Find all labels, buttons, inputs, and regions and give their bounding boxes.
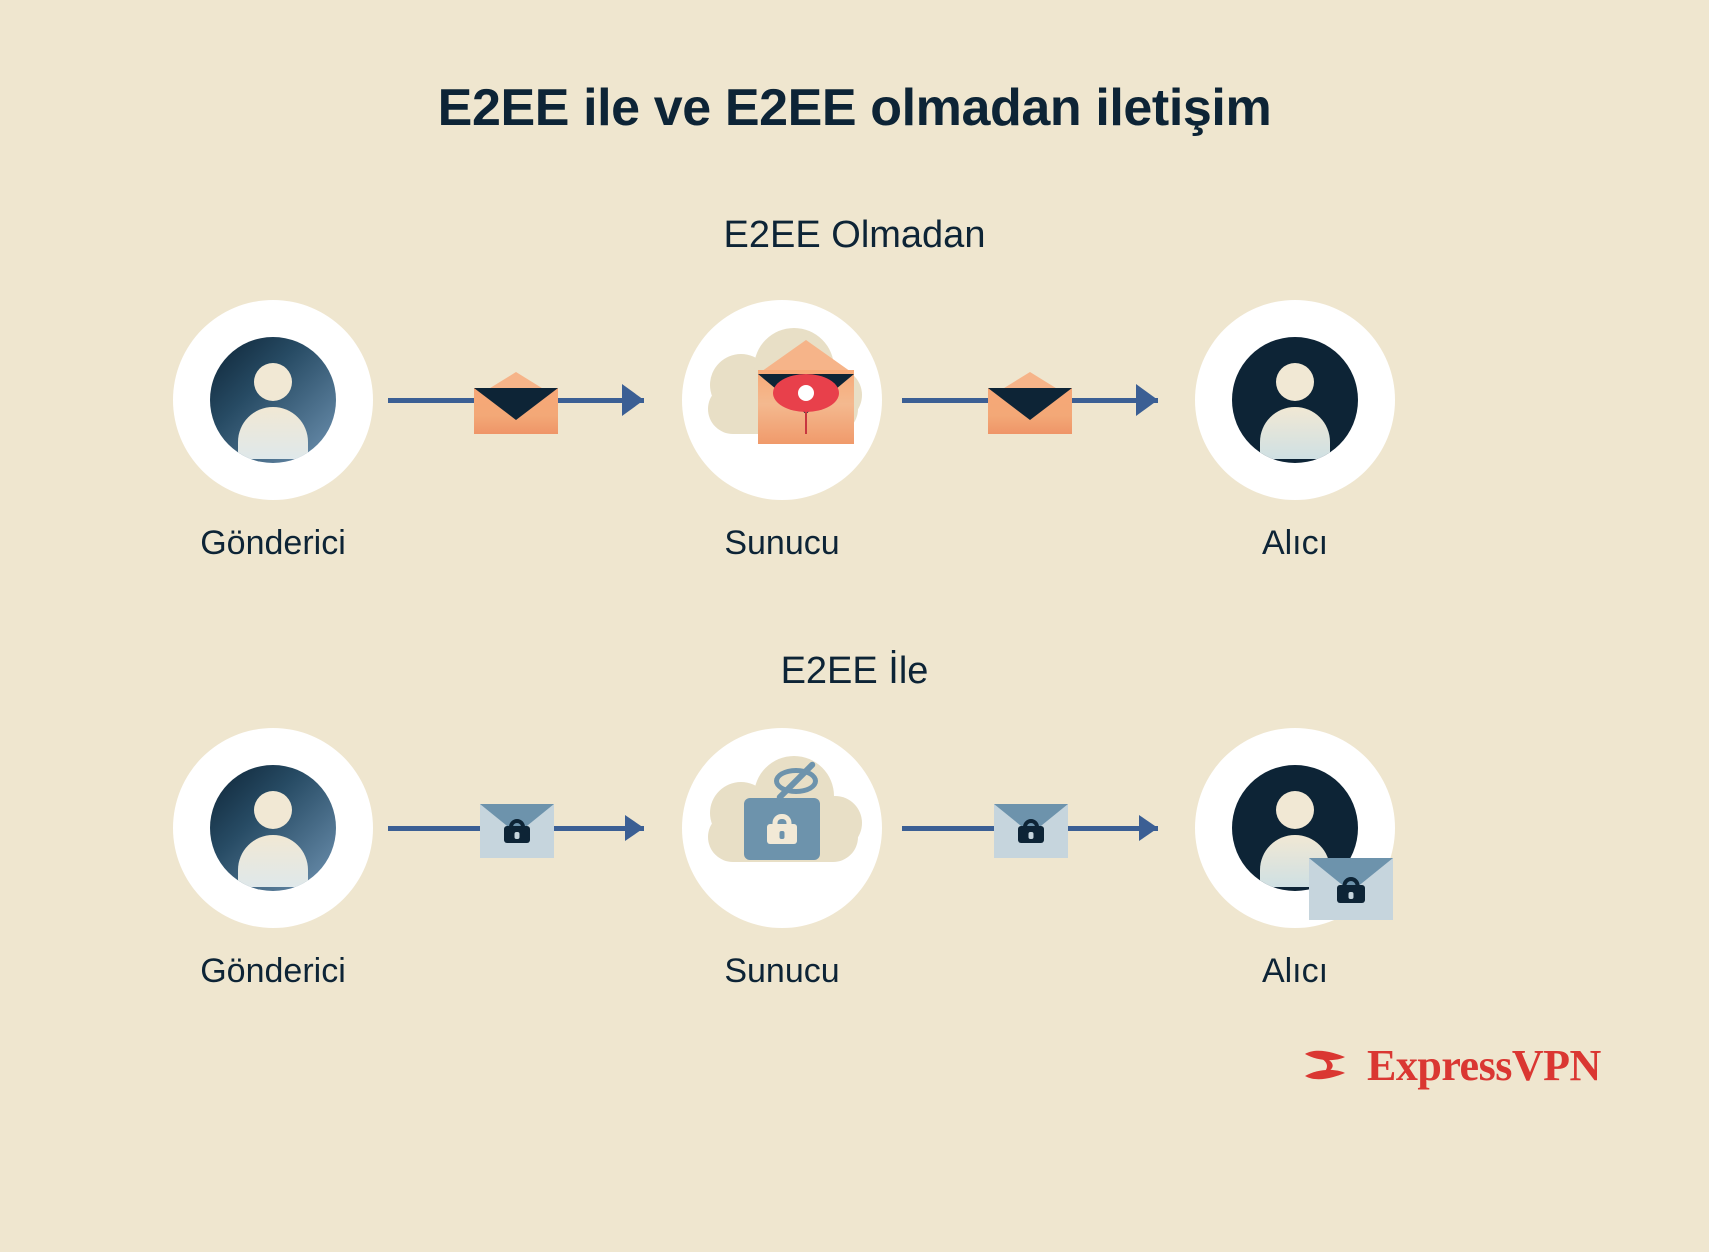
connector-server-to-receiver-plain [902,340,1158,460]
locked-envelope-icon [480,804,554,858]
envelope-flap-front [988,388,1072,420]
node-server-without-e2ee: Sunucu [682,300,882,563]
padlock-keyhole [515,832,520,839]
avatar-halo [173,300,373,500]
section-heading-without-e2ee: E2EE Olmadan [0,214,1709,257]
avatar-halo [1195,300,1395,500]
avatar-head-shape [1276,791,1314,829]
flow-row-without-e2ee: Gönderici [0,300,1709,600]
node-receiver-with-e2ee: Alıcı [1195,728,1395,991]
avatar-halo [682,728,882,928]
padlock-icon [504,819,530,843]
person-avatar-icon [210,337,336,463]
connector-server-to-receiver-encrypted [902,768,1158,888]
open-envelope-icon [474,372,558,434]
avatar-halo [1195,728,1395,928]
arrow-head-icon [625,815,644,841]
open-envelope-icon [988,372,1072,434]
envelope-flap-back [758,340,854,374]
node-label-server: Sunucu [682,952,882,991]
arrow-head-icon [622,384,644,416]
padlock-keyhole [780,831,785,839]
padlock-keyhole [1349,892,1354,899]
avatar-body-shape [238,407,308,459]
page-title: E2EE ile ve E2EE olmadan iletişim [0,78,1709,138]
section-heading-with-e2ee: E2EE İle [0,650,1709,693]
person-avatar-icon [1232,337,1358,463]
node-label-receiver: Alıcı [1195,524,1395,563]
locked-envelope-icon [1309,858,1393,920]
expressvpn-logo-mark [1295,1035,1355,1095]
eye-pupil [798,385,814,401]
node-sender-with-e2ee: Gönderici [173,728,373,991]
person-avatar-icon [210,765,336,891]
node-sender-without-e2ee: Gönderici [173,300,373,563]
arrow-head-icon [1139,815,1158,841]
padlock-icon [1337,877,1365,903]
expressvpn-logo: ExpressVPN [1295,1035,1601,1095]
flow-row-with-e2ee: Gönderici [0,728,1709,1028]
open-envelope-eye-icon [758,370,854,444]
node-label-sender: Gönderici [173,524,373,563]
padlock-icon [1018,819,1044,843]
locked-message-card-icon [744,798,820,860]
node-label-sender: Gönderici [173,952,373,991]
avatar-head-shape [1276,363,1314,401]
padlock-keyhole [1029,832,1034,839]
avatar-head-shape [254,791,292,829]
eye-icon [773,374,839,412]
avatar-halo [173,728,373,928]
eye-slash-icon [768,758,822,802]
avatar-body-shape [1260,407,1330,459]
envelope-flap-front [474,388,558,420]
avatar-body-shape [238,835,308,887]
locked-envelope-icon [994,804,1068,858]
padlock-icon [767,814,797,844]
node-server-with-e2ee: Sunucu [682,728,882,991]
arrow-head-icon [1136,384,1158,416]
node-label-server: Sunucu [682,524,882,563]
infographic-canvas: E2EE ile ve E2EE olmadan iletişim E2EE O… [0,0,1709,1252]
expressvpn-wordmark: ExpressVPN [1367,1040,1601,1091]
node-label-receiver: Alıcı [1195,952,1395,991]
connector-sender-to-server-encrypted [388,768,644,888]
connector-sender-to-server-plain [388,340,644,460]
avatar-halo [682,300,882,500]
avatar-head-shape [254,363,292,401]
node-receiver-without-e2ee: Alıcı [1195,300,1395,563]
